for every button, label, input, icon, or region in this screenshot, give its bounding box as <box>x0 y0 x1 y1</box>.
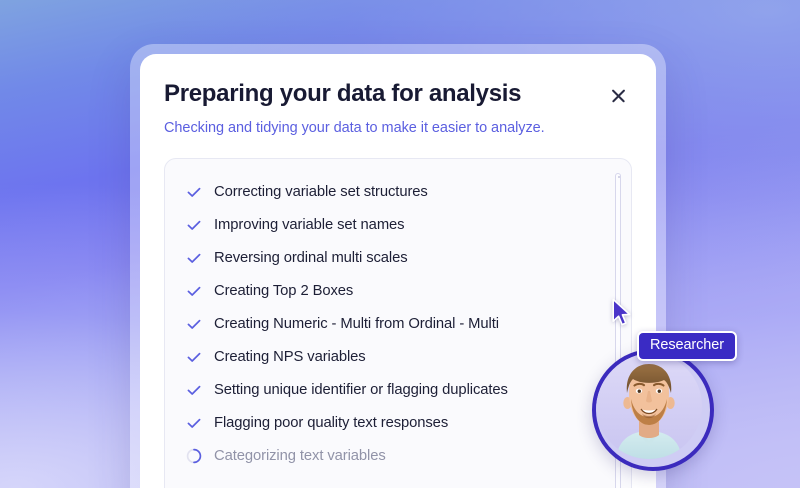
task-list-item-label: Setting unique identifier or flagging du… <box>214 382 508 398</box>
decorative-speck <box>617 467 620 470</box>
task-list-item-label: Categorizing text variables <box>214 448 386 464</box>
task-list-item[interactable]: Reversing ordinal multi scales <box>165 241 632 274</box>
task-list-item-label: Correcting variable set structures <box>214 184 428 200</box>
dialog-header: Preparing your data for analysis Checkin… <box>140 54 656 139</box>
screenshot-stage: Preparing your data for analysis Checkin… <box>0 0 800 488</box>
task-list-item-label: Improving variable set names <box>214 217 404 233</box>
check-icon <box>185 348 202 365</box>
task-list-item-label: Creating NPS variables <box>214 349 366 365</box>
task-list-item[interactable]: Correcting variable set structures <box>165 175 632 208</box>
task-list-item-label: Flagging poor quality text responses <box>214 415 448 431</box>
page-subtitle: Checking and tidying your data to make i… <box>164 119 632 139</box>
task-list-item[interactable]: Flagging poor quality text responses <box>165 406 632 439</box>
check-icon <box>185 414 202 431</box>
task-list-item[interactable]: Categorizing text variables <box>165 439 632 472</box>
avatar[interactable] <box>592 349 714 471</box>
task-list: Correcting variable set structuresImprov… <box>165 159 632 488</box>
page-title: Preparing your data for analysis <box>164 80 521 108</box>
preparing-data-dialog: Preparing your data for analysis Checkin… <box>140 54 656 488</box>
task-list-item[interactable]: Setting unique identifier or flagging du… <box>165 373 632 406</box>
check-icon <box>185 216 202 233</box>
task-list-item[interactable]: Creating Top 2 Boxes <box>165 274 632 307</box>
task-list-item[interactable]: Creating Numeric - Multi from Ordinal - … <box>165 307 632 340</box>
dialog-title-row: Preparing your data for analysis <box>164 80 632 109</box>
scrollbar-thumb-dot <box>618 176 620 178</box>
task-list-item-label: Reversing ordinal multi scales <box>214 250 408 266</box>
spinner-icon <box>185 447 202 464</box>
task-list-item-label: Creating Top 2 Boxes <box>214 283 353 299</box>
check-icon <box>185 183 202 200</box>
task-list-panel: Correcting variable set structuresImprov… <box>164 158 632 488</box>
presence-badge-researcher[interactable]: Researcher <box>637 331 737 361</box>
check-icon <box>185 381 202 398</box>
check-icon <box>185 249 202 266</box>
check-icon <box>185 315 202 332</box>
avatar-photo <box>596 353 702 459</box>
task-list-item[interactable]: Improving variable set names <box>165 208 632 241</box>
close-icon[interactable] <box>606 83 632 109</box>
task-list-item-label: Creating Numeric - Multi from Ordinal - … <box>214 316 499 332</box>
check-icon <box>185 282 202 299</box>
task-list-item[interactable]: Creating NPS variables <box>165 340 632 373</box>
